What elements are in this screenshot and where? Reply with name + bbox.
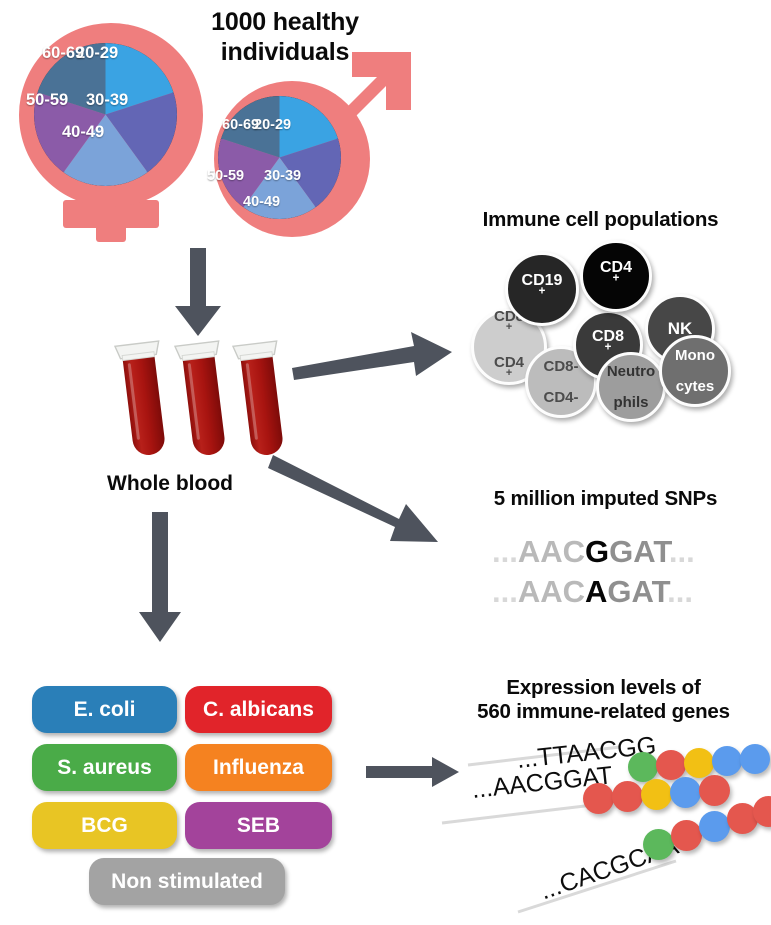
stimulant-label: Influenza xyxy=(213,756,304,780)
snp-section-title: 5 million imputed SNPs xyxy=(440,487,771,511)
arrow-cohort-to-blood xyxy=(175,248,221,336)
snp-sequence-row-2: ...AACAGAT... xyxy=(492,574,693,610)
snp-suffix: ... xyxy=(669,534,695,569)
female-slice-label-40-49: 40-49 xyxy=(62,123,104,142)
expression-section-title: Expression levels of 560 immune-related … xyxy=(436,676,771,724)
cell-label-line1: Mono xyxy=(675,348,715,363)
immune-section-title: Immune cell populations xyxy=(430,208,771,232)
snp-suffix: ... xyxy=(667,574,693,609)
stimulant-label: Non stimulated xyxy=(111,870,263,894)
male-slice-label-50-59: 50-59 xyxy=(207,168,244,184)
stimulant-label: E. coli xyxy=(74,698,136,722)
snp-prefix: ... xyxy=(492,574,518,609)
rna-bead xyxy=(740,744,770,774)
cell-label-line2: CD4- xyxy=(543,390,578,405)
stimulant-influenza[interactable]: Influenza xyxy=(185,744,332,791)
rna-bead xyxy=(699,811,730,842)
cell-label-line2: phils xyxy=(607,395,655,410)
rna-bead xyxy=(656,750,686,780)
cell-superscript: + xyxy=(605,342,612,354)
male-slice-label-60-69: 60-69 xyxy=(222,117,259,133)
rna-bead xyxy=(641,779,672,810)
stimulant-non-stimulated[interactable]: Non stimulated xyxy=(89,858,285,905)
male-slice-label-30-39: 30-39 xyxy=(264,168,301,184)
immune-cell-monocytes: Mono cytes xyxy=(659,335,731,407)
snp-left: AAC xyxy=(518,574,585,609)
rna-bead xyxy=(699,775,730,806)
rna-bead xyxy=(583,783,614,814)
stimulant-e-coli[interactable]: E. coli xyxy=(32,686,177,733)
rna-bead xyxy=(643,829,674,860)
stimulant-label: SEB xyxy=(237,814,280,838)
snp-prefix: ... xyxy=(492,534,518,569)
snp-left: AAC xyxy=(518,534,585,569)
blood-tubes xyxy=(106,337,296,467)
snp-variant: G xyxy=(585,534,609,569)
immune-cell-neutrophils: Neutro phils xyxy=(596,352,666,422)
blood-tube xyxy=(175,341,232,458)
rna-bead xyxy=(628,752,658,782)
immune-cell-cd4: CD4+ xyxy=(580,240,652,312)
stimulant-c-albicans[interactable]: C. albicans xyxy=(185,686,332,733)
cell-label-line2: CD4+ xyxy=(494,355,524,386)
figure-canvas: 1000 healthy individuals 20-29 3 xyxy=(0,0,771,922)
stimulant-bcg[interactable]: BCG xyxy=(32,802,177,849)
rna-bead xyxy=(612,781,643,812)
expression-title-line1: Expression levels of xyxy=(436,676,771,700)
female-slice-label-30-39: 30-39 xyxy=(86,91,128,110)
stimulant-seb[interactable]: SEB xyxy=(185,802,332,849)
snp-right: GAT xyxy=(609,534,669,569)
pie-slices xyxy=(34,43,177,186)
rna-bead xyxy=(671,820,702,851)
female-age-pie xyxy=(34,43,177,186)
rna-bead xyxy=(670,777,701,808)
immune-cell-cd19: CD19+ xyxy=(505,252,579,326)
arrow-blood-to-snp xyxy=(273,455,438,555)
snp-variant: A xyxy=(585,574,607,609)
male-slice-label-20-29: 20-29 xyxy=(254,117,291,133)
expression-title-line2: 560 immune-related genes xyxy=(436,700,771,724)
rna-bead xyxy=(684,748,714,778)
male-slice-label-40-49: 40-49 xyxy=(243,194,280,210)
arrow-stimulants-to-expression xyxy=(366,757,459,787)
cell-superscript: + xyxy=(539,286,546,298)
snp-sequence-row-1: ...AACGGAT... xyxy=(492,534,695,570)
cell-label-line2: cytes xyxy=(675,379,715,394)
cell-label-line1: CD8- xyxy=(543,359,578,374)
snp-right: GAT xyxy=(607,574,667,609)
blood-tube xyxy=(115,341,172,458)
cell-superscript: + xyxy=(613,273,620,285)
arrow-blood-to-stimulants xyxy=(139,512,181,642)
cell-label-line1: Neutro xyxy=(607,364,655,379)
arrow-blood-to-immune xyxy=(292,330,452,380)
female-slice-label-50-59: 50-59 xyxy=(26,91,68,110)
rna-bead xyxy=(712,746,742,776)
stimulant-label: S. aureus xyxy=(57,756,152,780)
stimulant-label: C. albicans xyxy=(203,698,314,722)
female-slice-label-60-69: 60-69 xyxy=(42,44,84,63)
blood-tube xyxy=(233,341,290,458)
whole-blood-label: Whole blood xyxy=(60,472,280,496)
stimulant-s-aureus[interactable]: S. aureus xyxy=(32,744,177,791)
stimulant-label: BCG xyxy=(81,814,128,838)
